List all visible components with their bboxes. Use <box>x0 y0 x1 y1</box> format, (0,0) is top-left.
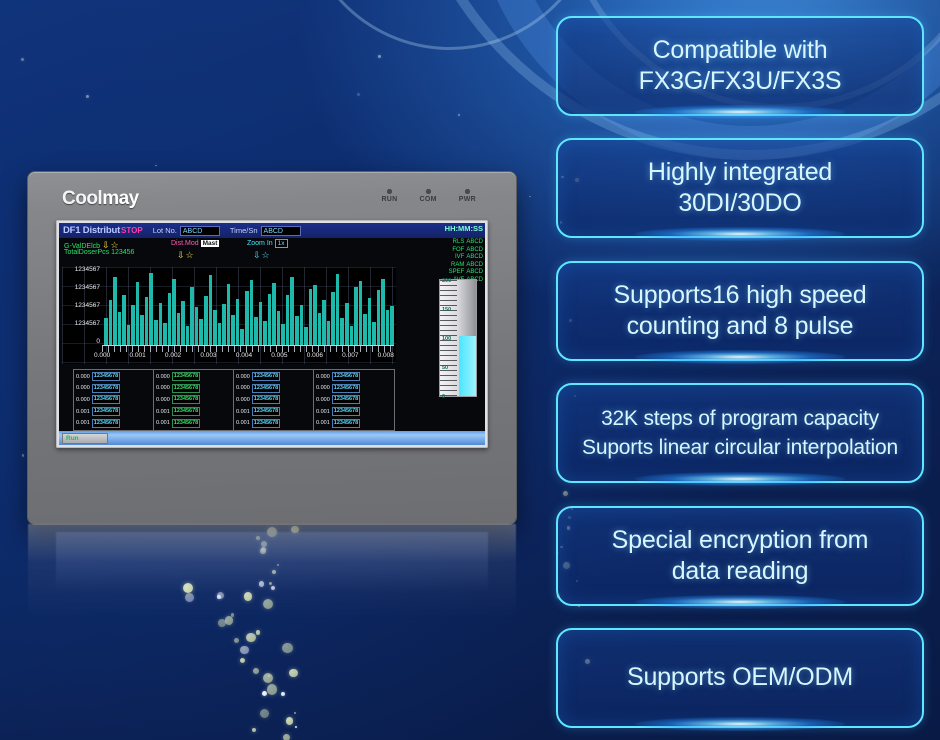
chart-x-tick: 0.004 <box>236 353 252 364</box>
led-label: COM <box>420 196 437 203</box>
feature-panel-text: Supports OEM/ODM <box>617 662 863 693</box>
data-table-value[interactable]: 12345678 <box>332 395 360 404</box>
data-table-key: 0.000 <box>316 385 330 391</box>
titlebar-field-1[interactable]: Time/SnABCD <box>230 226 301 236</box>
data-table-row: 0.00012345678 <box>76 372 151 381</box>
feature-panel-line: 32K steps of program capacity <box>582 404 898 433</box>
chart-bar <box>231 315 235 345</box>
data-table-key: 0.000 <box>236 385 250 391</box>
data-table-value[interactable]: 12345678 <box>252 395 280 404</box>
data-table-row: 0.00012345678 <box>76 384 151 393</box>
data-table-key: 0.000 <box>236 397 250 403</box>
led-dot-icon <box>426 189 431 194</box>
chart-bar <box>163 323 167 345</box>
feature-panel-line: Supports OEM/ODM <box>627 662 853 693</box>
data-table-key: 0.000 <box>316 397 330 403</box>
chart-bar <box>113 277 117 345</box>
data-table-value[interactable]: 12345678 <box>332 372 360 381</box>
feature-panel-text: Special encryption fromdata reading <box>602 525 879 587</box>
feature-panel-line: 30DI/30DO <box>648 188 832 219</box>
hmi-titlebar: DF1 Distribut STOP Lot No.ABCDTime/SnABC… <box>59 223 485 238</box>
bubble <box>260 709 270 719</box>
chart-bar <box>136 282 140 345</box>
chart-x-tick: 0.001 <box>129 353 145 364</box>
chart-y-tick: 1234567 <box>75 321 102 328</box>
data-table-value[interactable]: 12345678 <box>172 407 200 416</box>
data-table-key: 0.001 <box>316 420 330 426</box>
data-table-key: 0.001 <box>76 409 90 415</box>
bubble <box>234 638 240 644</box>
bubble <box>256 630 260 634</box>
chart-bar <box>377 290 381 345</box>
data-table-value[interactable]: 12345678 <box>92 407 120 416</box>
led-indicator-run: RUN <box>381 189 397 203</box>
chart-bar <box>118 312 122 345</box>
chart-bar <box>340 318 344 345</box>
data-table-row: 0.00112345678 <box>76 407 151 416</box>
status-label: IVF <box>455 254 464 262</box>
bubble <box>185 593 195 603</box>
chart-bar <box>245 291 249 345</box>
bubble <box>529 196 531 198</box>
chart-x-tick: 0.003 <box>200 353 216 364</box>
data-table-key: 0.000 <box>76 374 90 380</box>
chart-bar <box>154 320 158 345</box>
taskbar-run-button[interactable]: Run <box>62 433 108 444</box>
bubble <box>252 728 256 732</box>
chart-bar <box>372 322 376 345</box>
chart-bar <box>254 317 258 345</box>
chart-bar <box>350 326 354 345</box>
brand-prefix: Cool <box>62 188 102 209</box>
data-table-row: 0.00012345678 <box>156 372 231 381</box>
bubble <box>217 592 224 599</box>
bubble <box>262 691 268 697</box>
chart-bar <box>222 304 226 345</box>
hmi-clock: HH:MM:SS <box>445 224 483 233</box>
gauge-tick-label: 50 <box>442 365 448 371</box>
device-bezel-bottom <box>28 478 516 524</box>
chart-bar <box>386 310 390 345</box>
chart-x-tick: 0.000 <box>94 353 110 364</box>
titlebar-field-group: Lot No.ABCDTime/SnABCD <box>143 226 301 236</box>
distribution-chart: 12345671234567123456712345670 0.0000.001… <box>62 267 396 364</box>
chart-bar <box>313 285 317 345</box>
chart-y-tick: 1234567 <box>75 303 102 310</box>
data-table-row: 0.00012345678 <box>156 395 231 404</box>
chart-x-tick: 0.002 <box>165 353 181 364</box>
chart-x-tick: 0.005 <box>271 353 287 364</box>
led-label: RUN <box>381 196 397 203</box>
chart-bar <box>281 324 285 345</box>
data-table-value[interactable]: 12345678 <box>172 419 200 428</box>
bubble <box>291 526 299 534</box>
hmi-status-badge: STOP <box>121 226 143 235</box>
chart-bar <box>304 327 308 345</box>
data-table-value[interactable]: 12345678 <box>252 419 280 428</box>
chart-bar <box>390 306 394 345</box>
control-distmod-value[interactable]: Mast <box>201 240 220 247</box>
feature-panel-6[interactable]: Supports OEM/ODM <box>556 628 924 728</box>
device-reflection <box>28 524 516 620</box>
chart-bar <box>209 275 213 345</box>
chart-bar <box>195 307 199 345</box>
chart-bar <box>140 315 144 345</box>
control-zoomin-arrows[interactable]: ⇩☆ <box>253 250 271 261</box>
feature-panel-line: data reading <box>612 556 869 587</box>
status-row-rls: RLSABCD <box>431 239 483 247</box>
bubble <box>183 583 193 593</box>
feature-panel-5[interactable]: Special encryption fromdata reading <box>556 506 924 606</box>
data-table-column-4: 0.000123456780.000123456780.000123456780… <box>314 370 394 430</box>
chart-bars <box>104 273 394 345</box>
bubble <box>357 93 360 96</box>
chart-bar <box>145 297 149 345</box>
chart-bar <box>218 323 222 345</box>
control-distmod[interactable]: Dist.Mod Mast <box>171 240 219 247</box>
titlebar-field-input[interactable]: ABCD <box>180 226 220 236</box>
led-dot-icon <box>387 189 392 194</box>
bubble <box>240 658 245 663</box>
chart-y-tick: 1234567 <box>75 267 102 274</box>
chart-bar <box>327 321 331 345</box>
data-table-value[interactable]: 12345678 <box>332 419 360 428</box>
control-totaldoser-value: 123456 <box>111 249 134 256</box>
feature-panel-text: 32K steps of program capacitySuports lin… <box>572 404 908 462</box>
bubble <box>217 595 221 599</box>
data-table-column-1: 0.000123456780.000123456780.000123456780… <box>74 370 154 430</box>
banner-stage: Coolmay RUNCOMPWR DF1 Distribut STOP Lot… <box>0 0 940 740</box>
chart-bar <box>149 273 153 345</box>
chart-bar <box>213 310 217 345</box>
control-zoomin-value[interactable]: 1x <box>275 239 288 248</box>
bubble <box>86 95 89 98</box>
led-indicator-com: COM <box>420 189 437 203</box>
chart-bar <box>354 287 358 345</box>
data-table-key: 0.000 <box>156 397 170 403</box>
chart-bar <box>122 295 126 345</box>
status-value: ABCD <box>466 254 483 262</box>
panel-underglow <box>635 595 845 609</box>
chart-bar <box>186 326 190 345</box>
control-totaldoser: TotalDoserPcs 123456 <box>64 249 134 256</box>
bubble <box>22 454 25 457</box>
data-table-row: 0.00112345678 <box>156 407 231 416</box>
bubble <box>244 592 253 601</box>
data-table-row: 0.00012345678 <box>316 384 392 393</box>
feature-panel-text: Supports16 high speedcounting and 8 puls… <box>604 280 877 342</box>
bubble <box>282 643 293 654</box>
data-table-key: 0.001 <box>156 420 170 426</box>
bubble <box>271 586 275 590</box>
chart-x-tick: 0.007 <box>342 353 358 364</box>
hmi-control-row: G-ValDElcb ⇩☆ TotalDoserPcs 123456 Dist.… <box>59 239 485 265</box>
chart-bar <box>368 298 372 345</box>
chart-bar <box>309 289 313 345</box>
gauge-tick-label: 150 <box>442 307 451 313</box>
feature-panel-line: counting and 8 pulse <box>614 311 867 342</box>
data-table-value[interactable]: 12345678 <box>92 395 120 404</box>
led-label: PWR <box>459 196 476 203</box>
bubble <box>269 582 272 585</box>
chart-bar <box>109 300 113 345</box>
zoom-arrow-icon[interactable]: ⇩☆ <box>253 250 271 260</box>
chart-bar <box>363 314 367 345</box>
bubble <box>21 58 24 61</box>
panel-underglow <box>635 227 845 241</box>
hmi-data-table: 0.000123456780.000123456780.000123456780… <box>73 369 395 431</box>
data-table-row: 0.00112345678 <box>156 419 231 428</box>
chart-bar <box>272 283 276 345</box>
gauge-body: 200150100500 <box>439 279 477 397</box>
bubble <box>155 165 157 167</box>
chart-y-tick: 1234567 <box>75 285 102 292</box>
data-table-key: 0.000 <box>76 385 90 391</box>
data-table-key: 0.001 <box>156 409 170 415</box>
bubble <box>378 55 381 58</box>
chart-bar <box>199 319 203 345</box>
bubble <box>256 536 260 540</box>
control-zoomin[interactable]: Zoom In 1x <box>247 240 288 247</box>
chart-bar <box>204 296 208 345</box>
bubble <box>263 673 274 684</box>
status-row-ivf: IVFABCD <box>431 254 483 262</box>
panel-underglow <box>635 717 845 731</box>
chart-bar <box>127 325 131 345</box>
data-table-value[interactable]: 12345678 <box>92 384 120 393</box>
bubble <box>267 527 277 537</box>
chart-x-tick: 0.008 <box>378 353 394 364</box>
chart-bar <box>236 299 240 345</box>
chart-bar <box>336 274 340 345</box>
gauge-tick-label: 200 <box>442 278 451 284</box>
data-table-column-3: 0.000123456780.000123456780.000123456780… <box>234 370 314 430</box>
data-table-row: 0.00012345678 <box>316 395 392 404</box>
feature-panel-1[interactable]: Compatible withFX3G/FX3U/FX3S <box>556 16 924 116</box>
hmi-screen: DF1 Distribut STOP Lot No.ABCDTime/SnABC… <box>59 223 485 445</box>
data-table-row: 0.00012345678 <box>236 372 311 381</box>
bubble <box>294 712 297 715</box>
data-table-row: 0.00112345678 <box>236 407 311 416</box>
feature-panel-line: Compatible with <box>639 35 842 66</box>
chart-bar <box>181 301 185 345</box>
brand-suffix: may <box>102 188 139 209</box>
bubble <box>231 613 234 616</box>
data-table-value[interactable]: 12345678 <box>172 395 200 404</box>
titlebar-field-label: Lot No. <box>153 226 177 235</box>
chart-bar <box>227 284 231 345</box>
chart-bar <box>263 321 267 345</box>
chart-bar <box>159 303 163 345</box>
bubble <box>240 646 249 655</box>
bubble <box>268 675 270 677</box>
status-label: RLS <box>453 239 465 247</box>
feature-panel-4[interactable]: 32K steps of program capacitySuports lin… <box>556 383 924 483</box>
hmi-device-wrapper: Coolmay RUNCOMPWR DF1 Distribut STOP Lot… <box>28 172 516 524</box>
bubble <box>283 734 291 740</box>
bubble <box>272 570 276 574</box>
bubble <box>259 581 264 586</box>
titlebar-field-0[interactable]: Lot No.ABCD <box>153 226 220 236</box>
control-distmod-label: Dist.Mod <box>171 240 199 247</box>
data-table-value[interactable]: 12345678 <box>92 419 120 428</box>
feature-panel-line: Suports linear circular interpolation <box>582 433 898 462</box>
data-table-key: 0.000 <box>236 374 250 380</box>
chart-bar <box>290 277 294 345</box>
gauge-tick-label: 100 <box>442 336 451 342</box>
panel-underglow <box>635 350 845 364</box>
hmi-title: DF1 Distribut <box>63 225 120 236</box>
chart-bar <box>300 305 304 345</box>
data-table-row: 0.00112345678 <box>316 407 392 416</box>
chart-bar <box>322 300 326 345</box>
bubble <box>260 548 266 554</box>
feature-panel-2[interactable]: Highly integrated30DI/30DO <box>556 138 924 238</box>
hmi-device: Coolmay RUNCOMPWR DF1 Distribut STOP Lot… <box>28 172 516 524</box>
device-bezel-top: Coolmay RUNCOMPWR <box>28 172 516 222</box>
data-table-value[interactable]: 12345678 <box>252 384 280 393</box>
bubble <box>267 684 277 694</box>
titlebar-field-input[interactable]: ABCD <box>261 226 301 236</box>
taskbar-run-label: Run <box>66 435 79 442</box>
data-table-row: 0.00112345678 <box>236 419 311 428</box>
feature-panel-line: Special encryption from <box>612 525 869 556</box>
chart-bar <box>268 294 272 345</box>
panel-underglow <box>635 472 845 486</box>
data-table-key: 0.001 <box>316 409 330 415</box>
chart-bar <box>168 293 172 345</box>
chart-bar <box>345 303 349 345</box>
data-table-row: 0.00012345678 <box>236 395 311 404</box>
chart-bar <box>331 292 335 345</box>
control-zoomin-label: Zoom In <box>247 240 273 247</box>
data-table-value[interactable]: 12345678 <box>92 372 120 381</box>
chart-x-tick: 0.006 <box>307 353 323 364</box>
bubble <box>218 619 226 627</box>
feature-panel-line: Supports16 high speed <box>614 280 867 311</box>
data-table-value[interactable]: 12345678 <box>252 407 280 416</box>
data-table-value[interactable]: 12345678 <box>172 384 200 393</box>
chart-x-axis-labels: 0.0000.0010.0020.0030.0040.0050.0060.007… <box>92 353 396 364</box>
status-label: FOF <box>452 247 464 255</box>
led-dot-icon <box>465 189 470 194</box>
data-table-value[interactable]: 12345678 <box>332 384 360 393</box>
feature-panel-line: FX3G/FX3U/FX3S <box>639 66 842 97</box>
data-table-key: 0.001 <box>76 420 90 426</box>
down-arrow-icon[interactable]: ⇩☆ <box>177 250 195 260</box>
bubble <box>281 692 285 696</box>
status-row-fof: FOFABCD <box>431 247 483 255</box>
data-table-row: 0.00112345678 <box>316 419 392 428</box>
data-table-row: 0.00012345678 <box>76 395 151 404</box>
chart-bar <box>318 313 322 345</box>
gauge-fill <box>459 336 476 396</box>
gauge-tick-label: 0 <box>442 394 445 400</box>
bubble <box>253 668 259 674</box>
chart-bar <box>381 279 385 345</box>
device-reflection-screen <box>56 532 488 592</box>
data-table-row: 0.00012345678 <box>316 372 392 381</box>
bubble <box>295 726 297 728</box>
feature-panel-list: Compatible withFX3G/FX3U/FX3SHighly inte… <box>556 16 924 728</box>
bubble <box>263 599 273 609</box>
chart-bar <box>286 295 290 345</box>
panel-underglow <box>635 105 845 119</box>
chart-bar <box>172 279 176 345</box>
chart-bar <box>250 280 254 345</box>
chart-bar <box>259 302 263 345</box>
bubble <box>225 616 234 625</box>
bubble <box>246 633 256 643</box>
chart-bar <box>359 281 363 345</box>
chart-bar <box>177 313 181 345</box>
chart-y-axis-labels: 12345671234567123456712345670 <box>62 267 102 345</box>
data-table-key: 0.000 <box>156 374 170 380</box>
data-table-value[interactable]: 12345678 <box>172 372 200 381</box>
data-table-value[interactable]: 12345678 <box>332 407 360 416</box>
hmi-taskbar: Run <box>59 431 485 445</box>
data-table-row: 0.00012345678 <box>236 384 311 393</box>
bubble <box>458 114 460 116</box>
feature-panel-text: Highly integrated30DI/30DO <box>638 157 842 219</box>
feature-panel-text: Compatible withFX3G/FX3U/FX3S <box>629 35 852 97</box>
data-table-key: 0.000 <box>156 385 170 391</box>
led-indicator-pwr: PWR <box>459 189 476 203</box>
bubble <box>289 669 298 678</box>
data-table-column-2: 0.000123456780.000123456780.000123456780… <box>154 370 234 430</box>
bubble <box>261 541 267 547</box>
data-table-key: 0.000 <box>76 397 90 403</box>
chart-bar <box>104 318 108 345</box>
chart-bar <box>240 329 244 345</box>
bubble <box>277 564 279 566</box>
control-totaldoser-label: TotalDoserPcs <box>64 249 109 256</box>
screen-frame: DF1 Distribut STOP Lot No.ABCDTime/SnABC… <box>56 220 488 448</box>
chart-bar <box>295 316 299 345</box>
bubble <box>261 547 267 553</box>
control-distmod-arrows[interactable]: ⇩☆ <box>177 250 195 261</box>
status-value: ABCD <box>466 239 483 247</box>
data-table-key: 0.000 <box>316 374 330 380</box>
level-gauge: 200150100500 <box>433 267 483 399</box>
feature-panel-line: Highly integrated <box>648 157 832 188</box>
data-table-key: 0.001 <box>236 409 250 415</box>
data-table-value[interactable]: 12345678 <box>252 372 280 381</box>
titlebar-field-label: Time/Sn <box>230 226 258 235</box>
chart-bar <box>277 311 281 345</box>
chart-bar <box>131 305 135 345</box>
data-table-key: 0.001 <box>236 420 250 426</box>
data-table-row: 0.00112345678 <box>76 419 151 428</box>
brand-logo: Coolmay <box>62 188 139 210</box>
bubble <box>286 717 294 725</box>
chart-bar <box>190 287 194 345</box>
feature-panel-3[interactable]: Supports16 high speedcounting and 8 puls… <box>556 261 924 361</box>
status-value: ABCD <box>466 247 483 255</box>
led-indicator-group: RUNCOMPWR <box>381 189 476 203</box>
data-table-row: 0.00012345678 <box>156 384 231 393</box>
